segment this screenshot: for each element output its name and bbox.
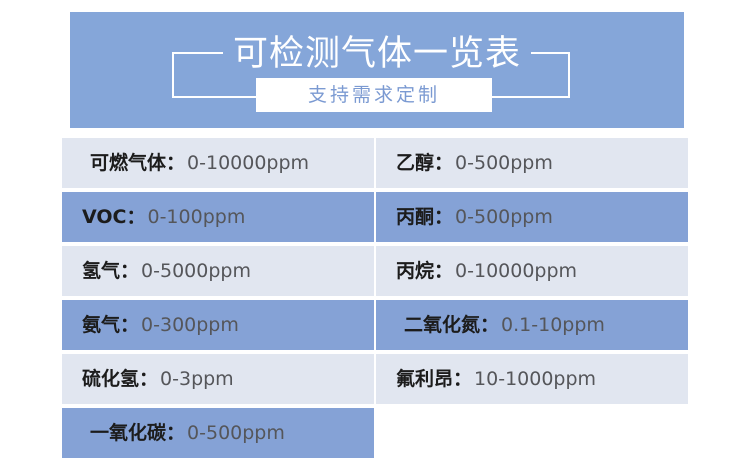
gas-name: 丙烷 bbox=[396, 259, 434, 283]
gas-name: 氢气 bbox=[82, 259, 120, 283]
gas-name: 乙醇 bbox=[396, 151, 434, 175]
gas-separator: ： bbox=[434, 151, 453, 175]
gas-separator: ： bbox=[120, 259, 139, 283]
gas-range: 0-5000ppm bbox=[141, 259, 251, 283]
gas-separator: ： bbox=[126, 205, 145, 229]
table-row: 氟利昂：10-1000ppm bbox=[376, 354, 688, 404]
page-title-text: 可检测气体一览表 bbox=[223, 34, 531, 74]
gas-separator: ： bbox=[434, 205, 453, 229]
table-row: 氨气：0-300ppm bbox=[62, 300, 374, 350]
gas-range: 0-300ppm bbox=[141, 313, 239, 337]
page-title: 可检测气体一览表 bbox=[70, 34, 684, 74]
gas-separator: ： bbox=[166, 421, 185, 445]
gas-name: 可燃气体 bbox=[90, 151, 166, 175]
gas-name: 硫化氢 bbox=[82, 367, 139, 391]
gas-range: 0-500ppm bbox=[187, 421, 285, 445]
gas-name: 丙酮 bbox=[396, 205, 434, 229]
gas-separator: ： bbox=[139, 367, 158, 391]
gas-range: 0-100ppm bbox=[147, 205, 245, 229]
gas-name: 氟利昂 bbox=[396, 367, 453, 391]
table-row: 二氧化氮：0.1-10ppm bbox=[376, 300, 688, 350]
gas-range: 0.1-10ppm bbox=[501, 313, 605, 337]
gas-table-right-column: 乙醇：0-500ppm丙酮：0-500ppm丙烷：0-10000ppm二氧化氮：… bbox=[376, 138, 688, 408]
table-row: 可燃气体：0-10000ppm bbox=[62, 138, 374, 188]
gas-range: 0-3ppm bbox=[160, 367, 234, 391]
table-row: 丙酮：0-500ppm bbox=[376, 192, 688, 242]
custom-support-badge: 支持需求定制 bbox=[256, 78, 492, 112]
table-row: 氢气：0-5000ppm bbox=[62, 246, 374, 296]
gas-separator: ： bbox=[166, 151, 185, 175]
gas-name: 二氧化氮 bbox=[404, 313, 480, 337]
gas-name: VOC bbox=[82, 205, 126, 229]
table-row: 硫化氢：0-3ppm bbox=[62, 354, 374, 404]
gas-range: 0-10000ppm bbox=[455, 259, 577, 283]
gas-range: 0-10000ppm bbox=[187, 151, 309, 175]
header-banner: 可检测气体一览表 支持需求定制 bbox=[70, 12, 684, 128]
gas-range: 10-1000ppm bbox=[474, 367, 596, 391]
table-row: 乙醇：0-500ppm bbox=[376, 138, 688, 188]
gas-separator: ： bbox=[120, 313, 139, 337]
gas-separator: ： bbox=[434, 259, 453, 283]
gas-separator: ： bbox=[453, 367, 472, 391]
gas-range: 0-500ppm bbox=[455, 205, 553, 229]
custom-support-badge-text: 支持需求定制 bbox=[308, 84, 440, 106]
gas-name: 一氧化碳 bbox=[90, 421, 166, 445]
table-row: VOC：0-100ppm bbox=[62, 192, 374, 242]
table-row: 丙烷：0-10000ppm bbox=[376, 246, 688, 296]
gas-list-poster: 可检测气体一览表 支持需求定制 可燃气体：0-10000ppmVOC：0-100… bbox=[0, 0, 750, 474]
table-row: 一氧化碳：0-500ppm bbox=[62, 408, 374, 458]
gas-name: 氨气 bbox=[82, 313, 120, 337]
gas-table-left-column: 可燃气体：0-10000ppmVOC：0-100ppm氢气：0-5000ppm氨… bbox=[62, 138, 374, 462]
gas-separator: ： bbox=[480, 313, 499, 337]
gas-range: 0-500ppm bbox=[455, 151, 553, 175]
